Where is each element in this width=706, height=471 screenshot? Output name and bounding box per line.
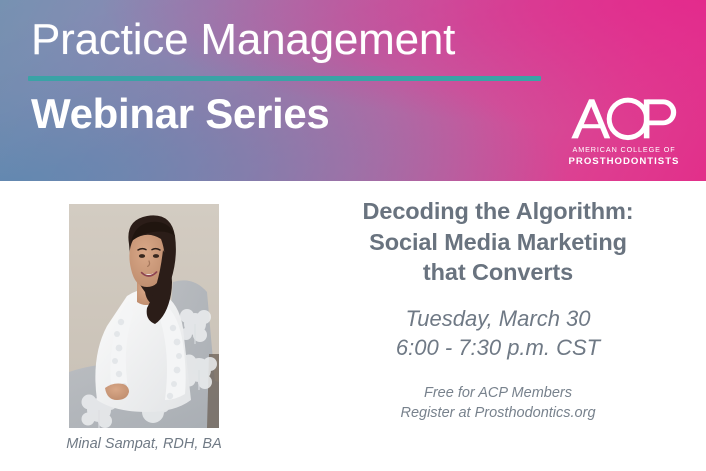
webinar-title-line-1: Decoding the Algorithm:	[290, 196, 706, 227]
webinar-registration-info: Free for ACP Members Register at Prostho…	[290, 383, 706, 424]
webinar-promo-poster: Practice Management Webinar Series AMERI…	[0, 0, 706, 471]
webinar-date: Tuesday, March 30	[290, 304, 706, 333]
webinar-details: Decoding the Algorithm: Social Media Mar…	[290, 196, 706, 424]
acp-logo: AMERICAN COLLEGE OF PROSTHODONTISTS	[564, 95, 684, 167]
header-banner: Practice Management Webinar Series AMERI…	[0, 0, 706, 181]
speaker-name-caption: Minal Sampat, RDH, BA	[0, 436, 288, 452]
acp-logo-mark-icon	[566, 95, 683, 141]
registration-url-note[interactable]: Register at Prosthodontics.org	[290, 403, 706, 424]
registration-price-note: Free for ACP Members	[290, 383, 706, 404]
header-title-line1: Practice Management	[31, 17, 455, 63]
speaker-photo	[69, 204, 219, 428]
webinar-title: Decoding the Algorithm: Social Media Mar…	[290, 196, 706, 288]
acp-logo-subtitle-line2: PROSTHODONTISTS	[564, 156, 684, 167]
webinar-datetime: Tuesday, March 30 6:00 - 7:30 p.m. CST	[290, 304, 706, 363]
header-divider-rule	[28, 76, 541, 81]
webinar-time: 6:00 - 7:30 p.m. CST	[290, 333, 706, 362]
header-title-line2: Webinar Series	[31, 92, 330, 136]
webinar-title-line-3: that Converts	[290, 257, 706, 288]
acp-logo-subtitle-line1: AMERICAN COLLEGE OF	[564, 145, 684, 154]
webinar-title-line-2: Social Media Marketing	[290, 227, 706, 258]
